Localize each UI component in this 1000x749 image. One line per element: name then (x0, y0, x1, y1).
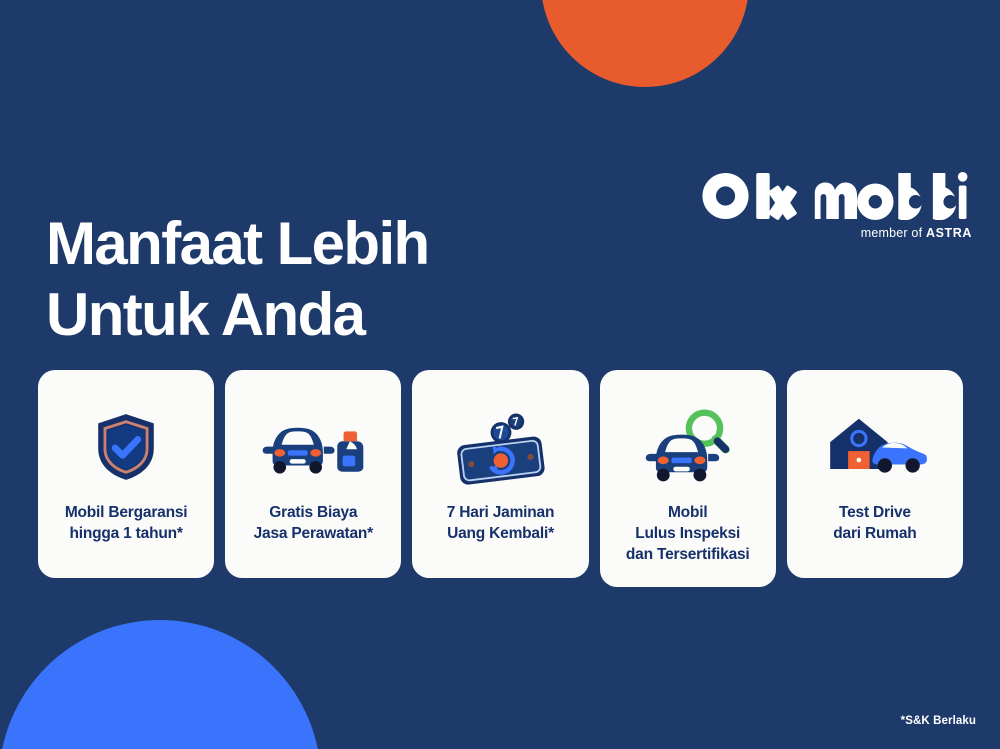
benefit-card[interactable]: Mobil Lulus Inspeksi dan Tersertifikasi (600, 370, 776, 587)
home-test-drive-icon (823, 404, 927, 490)
benefit-card[interactable]: Gratis Biaya Jasa Perawatan* (225, 370, 401, 578)
benefit-card-label: 7 Hari Jaminan Uang Kembali* (447, 502, 554, 544)
car-oil-service-icon (260, 404, 366, 490)
benefit-card-label: Test Drive dari Rumah (833, 502, 916, 544)
benefit-card-label: Mobil Lulus Inspeksi dan Tersertifikasi (626, 502, 750, 565)
terms-footnote: *S&K Berlaku (901, 715, 976, 727)
benefit-card-label: Mobil Bergaransi hingga 1 tahun* (65, 502, 188, 544)
logo-tagline: member of ASTRA (696, 226, 972, 240)
car-inspection-magnifier-icon (644, 404, 732, 490)
money-refund-icon (451, 404, 551, 490)
promo-banner: Manfaat Lebih Untuk Anda (0, 0, 1000, 749)
benefit-card[interactable]: Test Drive dari Rumah (787, 370, 963, 578)
brand-logo: member of ASTRA (696, 172, 972, 240)
shield-check-icon (94, 404, 158, 490)
benefit-card-label: Gratis Biaya Jasa Perawatan* (254, 502, 373, 544)
logo-tagline-brand: ASTRA (926, 226, 972, 240)
benefit-card[interactable]: Mobil Bergaransi hingga 1 tahun* (38, 370, 214, 578)
logo-tagline-prefix: member of (861, 226, 926, 240)
benefit-card-list: Mobil Bergaransi hingga 1 tahun* (38, 370, 963, 587)
decorative-blue-circle (0, 620, 321, 749)
benefit-card[interactable]: 7 Hari Jaminan Uang Kembali* (412, 370, 588, 578)
decorative-orange-circle (541, 0, 749, 87)
page-title: Manfaat Lebih Untuk Anda (46, 208, 429, 350)
olxmobbi-logo-icon (696, 172, 972, 220)
